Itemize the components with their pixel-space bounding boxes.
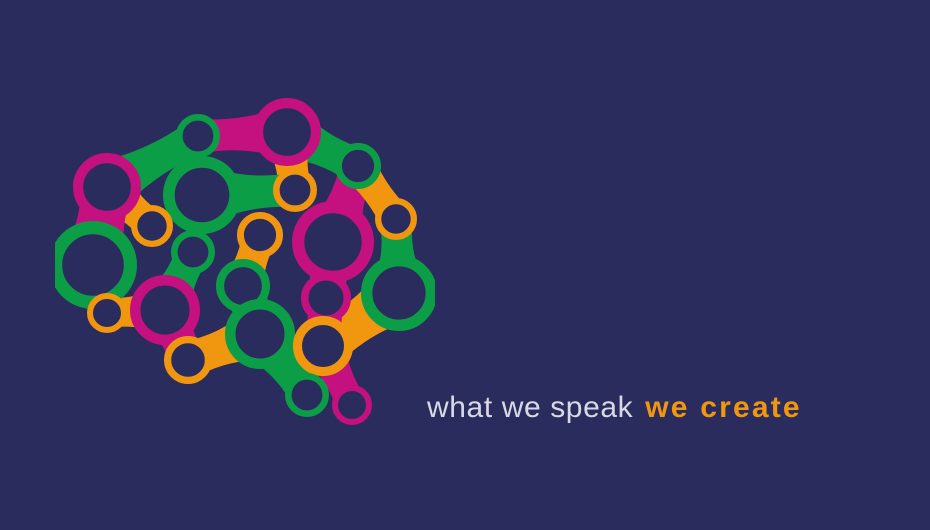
- brain-network-logo: [55, 95, 435, 425]
- splash-canvas: what we speak we create: [0, 0, 930, 530]
- tagline-accent-text: we create: [645, 391, 802, 425]
- tagline-light-text: what we speak: [427, 391, 633, 425]
- node-layer: [56, 103, 432, 422]
- brain-network-svg: [55, 95, 435, 425]
- tagline: what we speak we create: [427, 388, 802, 428]
